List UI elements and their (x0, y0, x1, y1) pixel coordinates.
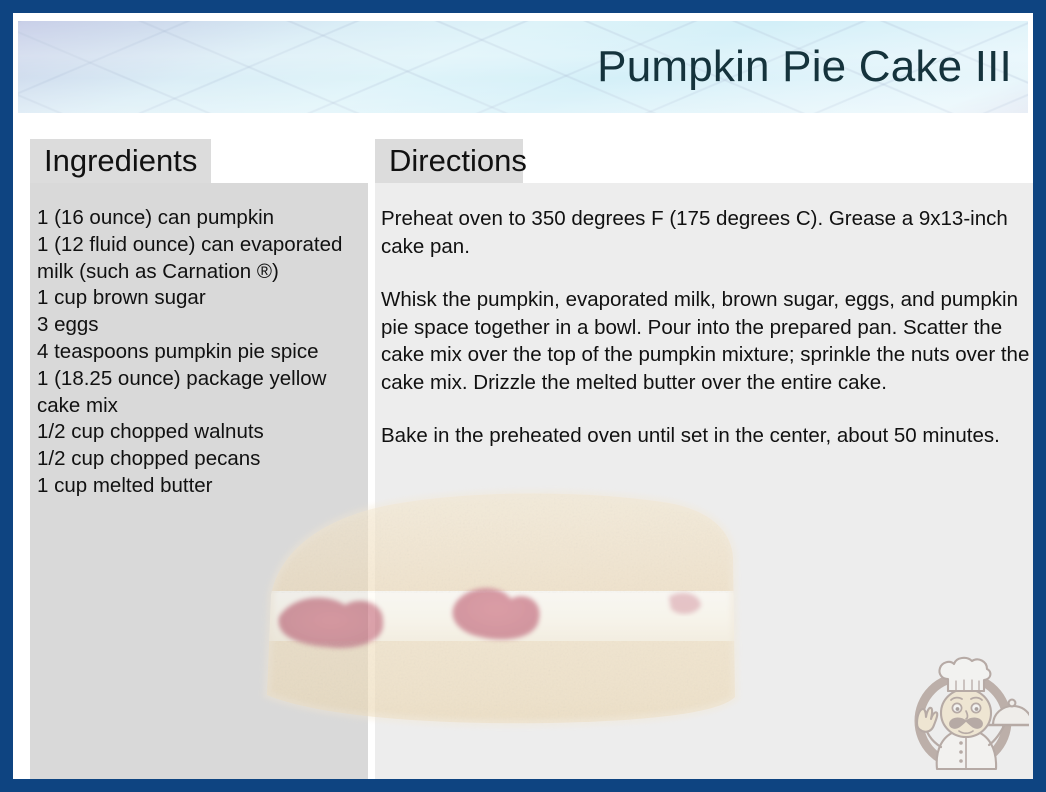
recipe-card: Pumpkin Pie Cake III Ingredients Directi… (0, 0, 1046, 792)
directions-section-header: Directions (375, 139, 523, 183)
list-item: 1 (16 ounce) can pumpkin (37, 205, 367, 232)
direction-step: Preheat oven to 350 degrees F (175 degre… (381, 205, 1033, 260)
list-item: 1 (18.25 ounce) package yellow cake mix (37, 366, 367, 420)
page-title: Pumpkin Pie Cake III (597, 42, 1012, 92)
list-item: 1 cup melted butter (37, 473, 367, 500)
title-banner: Pumpkin Pie Cake III (18, 21, 1028, 113)
list-item: 4 teaspoons pumpkin pie spice (37, 339, 367, 366)
ingredients-section-header: Ingredients (30, 139, 211, 183)
list-item: 3 eggs (37, 312, 367, 339)
direction-step: Bake in the preheated oven until set in … (381, 422, 1033, 450)
ingredients-list: 1 (16 ounce) can pumpkin 1 (12 fluid oun… (37, 205, 367, 500)
card-inner-area: Pumpkin Pie Cake III Ingredients Directi… (13, 13, 1033, 779)
list-item: 1 cup brown sugar (37, 285, 367, 312)
directions-list: Preheat oven to 350 degrees F (175 degre… (381, 205, 1033, 450)
direction-step: Whisk the pumpkin, evaporated milk, brow… (381, 286, 1033, 396)
list-item: 1 (12 fluid ounce) can evaporated milk (… (37, 232, 367, 286)
list-item: 1/2 cup chopped walnuts (37, 419, 367, 446)
list-item: 1/2 cup chopped pecans (37, 446, 367, 473)
